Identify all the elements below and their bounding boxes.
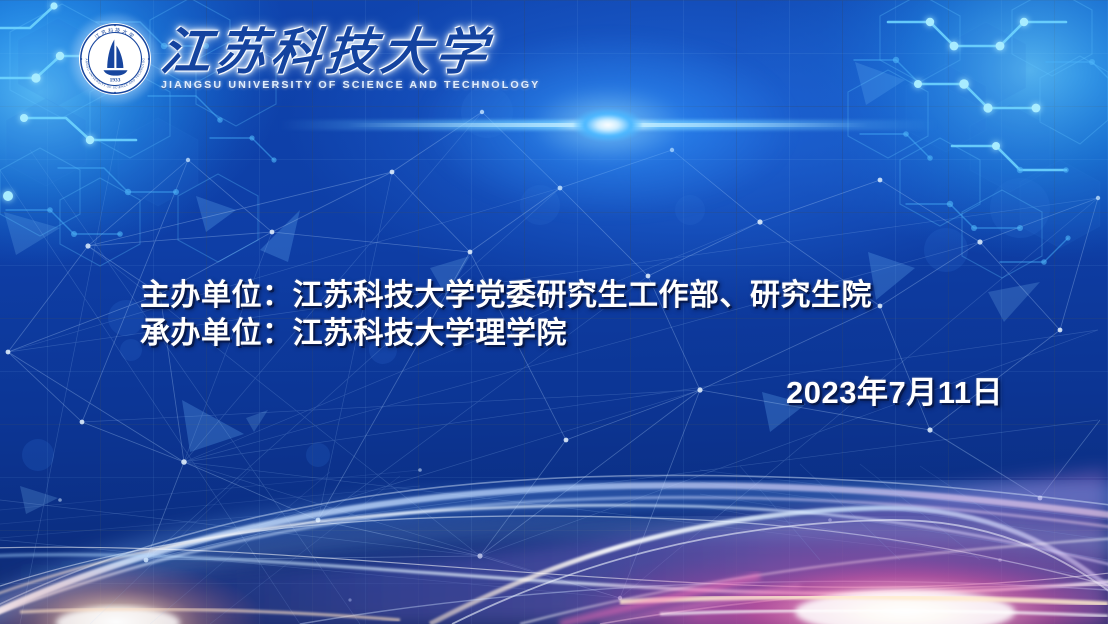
university-name-english: JIANGSU UNIVERSITY OF SCIENCE AND TECHNO…: [161, 79, 540, 91]
university-name-chinese: 江苏科技大学: [158, 27, 535, 77]
event-date: 2023年7月11日: [786, 367, 1003, 412]
host-line: 承办单位：江苏科技大学理学院: [140, 315, 872, 353]
organizer-line: 主办单位：江苏科技大学党委研究生工作部、研究生院: [140, 277, 872, 315]
presentation-slide: .nl { stroke:#bcdcff; stroke-width:.8; f…: [0, 0, 1108, 624]
university-wordmark: 江苏科技大学 JIANGSU UNIVERSITY OF SCIENCE AND…: [161, 27, 533, 91]
university-logo: 江苏科技大学 JIANGSU UNIVERSITY OF SCIENCE AND…: [78, 22, 533, 96]
organizer-block: 主办单位：江苏科技大学党委研究生工作部、研究生院 承办单位：江苏科技大学理学院: [140, 277, 872, 353]
university-seal-sailboat-icon: 江苏科技大学 JIANGSU UNIVERSITY OF SCIENCE AND…: [78, 22, 152, 96]
svg-text:1933: 1933: [110, 78, 121, 84]
